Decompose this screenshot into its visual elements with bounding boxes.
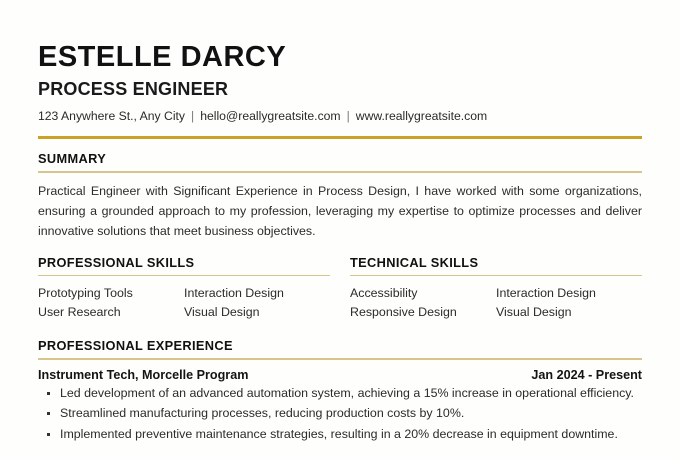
skill-item: Responsive Design <box>350 303 496 322</box>
professional-skills-divider <box>38 275 330 277</box>
experience-bullet: Implemented preventive maintenance strat… <box>38 425 642 445</box>
skills-row: PROFESSIONAL SKILLS Prototyping Tools Us… <box>38 255 642 322</box>
experience-bullet: Streamlined manufacturing processes, red… <box>38 404 642 424</box>
technical-skills-section: TECHNICAL SKILLS Accessibility Responsiv… <box>350 255 642 322</box>
professional-skills-column-right: Interaction Design Visual Design <box>184 284 330 322</box>
contact-email[interactable]: hello@reallygreatsite.com <box>200 109 340 123</box>
summary-heading: SUMMARY <box>38 151 642 166</box>
skill-item: Prototyping Tools <box>38 284 184 303</box>
contact-line: 123 Anywhere St., Any City|hello@reallyg… <box>38 109 642 125</box>
skill-item: Accessibility <box>350 284 496 303</box>
skill-item: Interaction Design <box>184 284 330 303</box>
summary-divider <box>38 171 642 173</box>
skill-item: User Research <box>38 303 184 322</box>
resume-header: ESTELLE DARCY PROCESS ENGINEER 123 Anywh… <box>38 42 642 139</box>
experience-divider <box>38 358 642 360</box>
technical-skills-column-right: Interaction Design Visual Design <box>496 284 642 322</box>
experience-heading: PROFESSIONAL EXPERIENCE <box>38 338 642 353</box>
summary-text: Practical Engineer with Significant Expe… <box>38 181 642 241</box>
contact-separator-2: | <box>347 109 350 125</box>
professional-skills-heading: PROFESSIONAL SKILLS <box>38 255 330 270</box>
candidate-job-title: PROCESS ENGINEER <box>38 80 642 100</box>
professional-skills-columns: Prototyping Tools User Research Interact… <box>38 284 330 322</box>
experience-entry-header: Instrument Tech, Morcelle Program Jan 20… <box>38 368 642 382</box>
experience-date: Jan 2024 - Present <box>531 368 642 382</box>
skill-item: Interaction Design <box>496 284 642 303</box>
technical-skills-columns: Accessibility Responsive Design Interact… <box>350 284 642 322</box>
experience-section: PROFESSIONAL EXPERIENCE Instrument Tech,… <box>38 338 642 445</box>
professional-skills-section: PROFESSIONAL SKILLS Prototyping Tools Us… <box>38 255 330 322</box>
experience-bullet: Led development of an advanced automatio… <box>38 384 642 404</box>
resume-page: ESTELLE DARCY PROCESS ENGINEER 123 Anywh… <box>0 0 680 459</box>
skill-item: Visual Design <box>496 303 642 322</box>
experience-bullet-list: Led development of an advanced automatio… <box>38 384 642 446</box>
summary-section: SUMMARY Practical Engineer with Signific… <box>38 151 642 241</box>
contact-website[interactable]: www.reallygreatsite.com <box>356 109 487 123</box>
experience-role: Instrument Tech, Morcelle Program <box>38 368 248 382</box>
technical-skills-column-left: Accessibility Responsive Design <box>350 284 496 322</box>
technical-skills-divider <box>350 275 642 277</box>
technical-skills-heading: TECHNICAL SKILLS <box>350 255 642 270</box>
professional-skills-column-left: Prototyping Tools User Research <box>38 284 184 322</box>
contact-separator-1: | <box>191 109 194 125</box>
skill-item: Visual Design <box>184 303 330 322</box>
header-divider <box>38 136 642 139</box>
candidate-name: ESTELLE DARCY <box>38 42 642 72</box>
experience-entry: Instrument Tech, Morcelle Program Jan 20… <box>38 368 642 446</box>
contact-address: 123 Anywhere St., Any City <box>38 109 185 123</box>
